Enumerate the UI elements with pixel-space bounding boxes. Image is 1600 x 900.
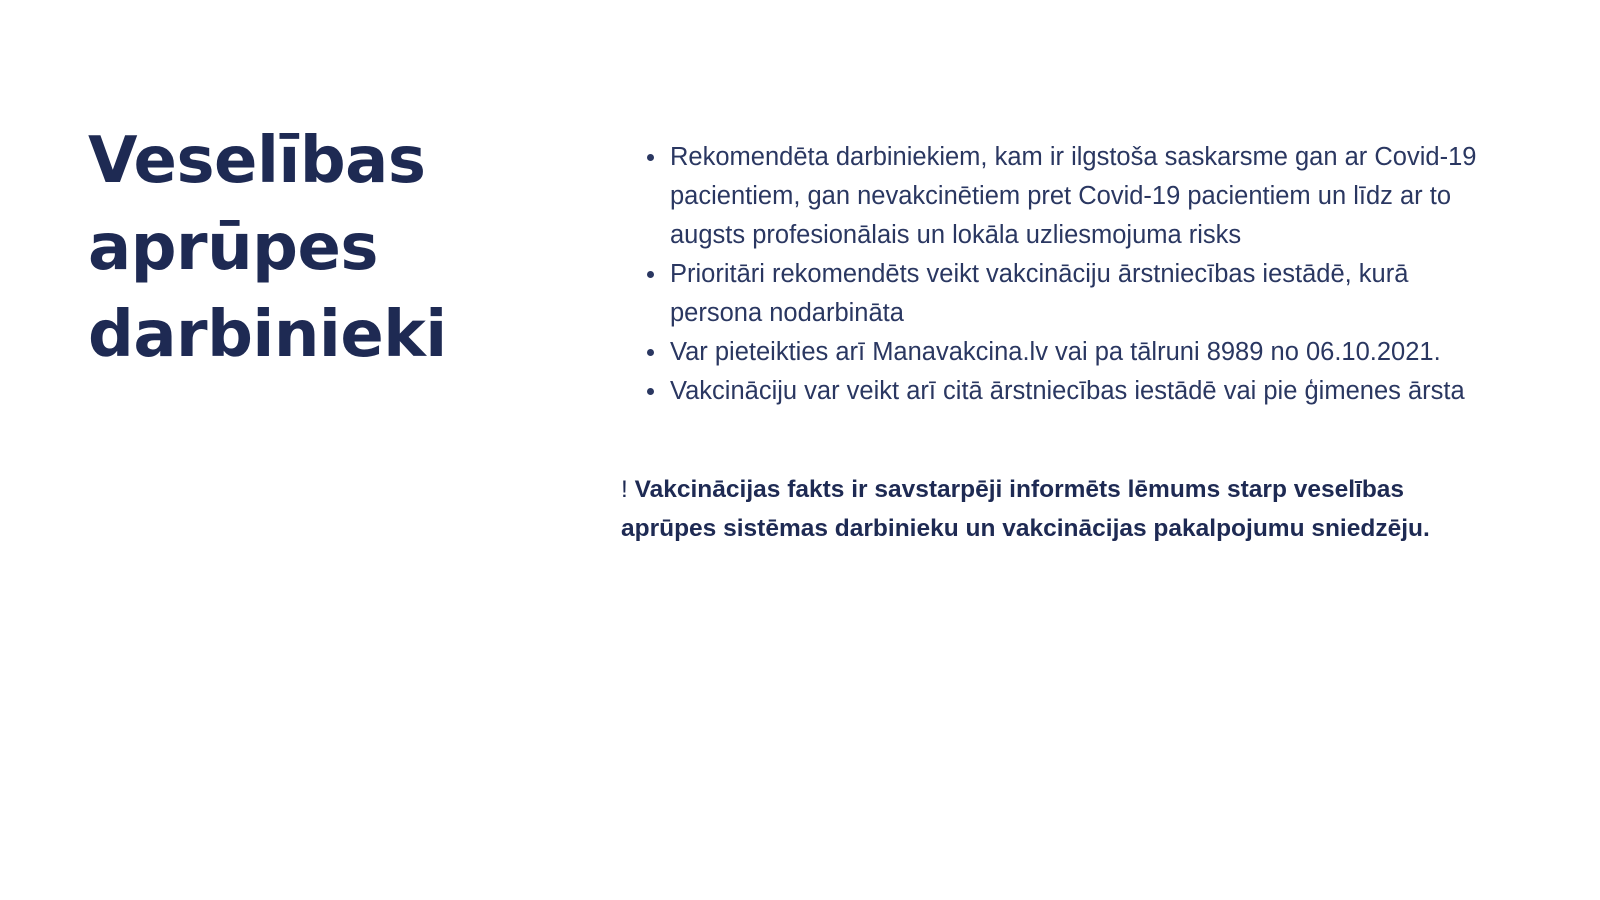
slide-canvas: Veselības aprūpes darbinieki Rekomendēta…: [0, 0, 1600, 900]
bullet-dot-icon: [647, 349, 654, 356]
highlight-note: ! Vakcinācijas fakts ir savstarpēji info…: [621, 470, 1451, 548]
list-item: Vakcināciju var veikt arī citā ārstniecī…: [621, 372, 1501, 411]
list-item: Var pieteikties arī Manavakcina.lv vai p…: [621, 333, 1501, 372]
list-item-text: Prioritāri rekomendēts veikt vakcināciju…: [670, 260, 1408, 327]
highlight-note-text: Vakcinācijas fakts ir savstarpēji inform…: [621, 476, 1430, 542]
body-content: Rekomendēta darbiniekiem, kam ir ilgstoš…: [621, 138, 1501, 548]
page-title: Veselības aprūpes darbinieki: [88, 118, 558, 379]
list-item-text: Rekomendēta darbiniekiem, kam ir ilgstoš…: [670, 143, 1476, 249]
list-item-text: Var pieteikties arī Manavakcina.lv vai p…: [670, 338, 1441, 366]
bullet-list: Rekomendēta darbiniekiem, kam ir ilgstoš…: [621, 138, 1501, 411]
list-item: Rekomendēta darbiniekiem, kam ir ilgstoš…: [621, 138, 1501, 255]
exclamation-icon: !: [621, 476, 628, 503]
list-item: Prioritāri rekomendēts veikt vakcināciju…: [621, 255, 1501, 333]
bullet-dot-icon: [647, 154, 654, 161]
bullet-dot-icon: [647, 388, 654, 395]
bullet-dot-icon: [647, 271, 654, 278]
title-block: Veselības aprūpes darbinieki: [88, 118, 558, 379]
list-item-text: Vakcināciju var veikt arī citā ārstniecī…: [670, 377, 1465, 405]
